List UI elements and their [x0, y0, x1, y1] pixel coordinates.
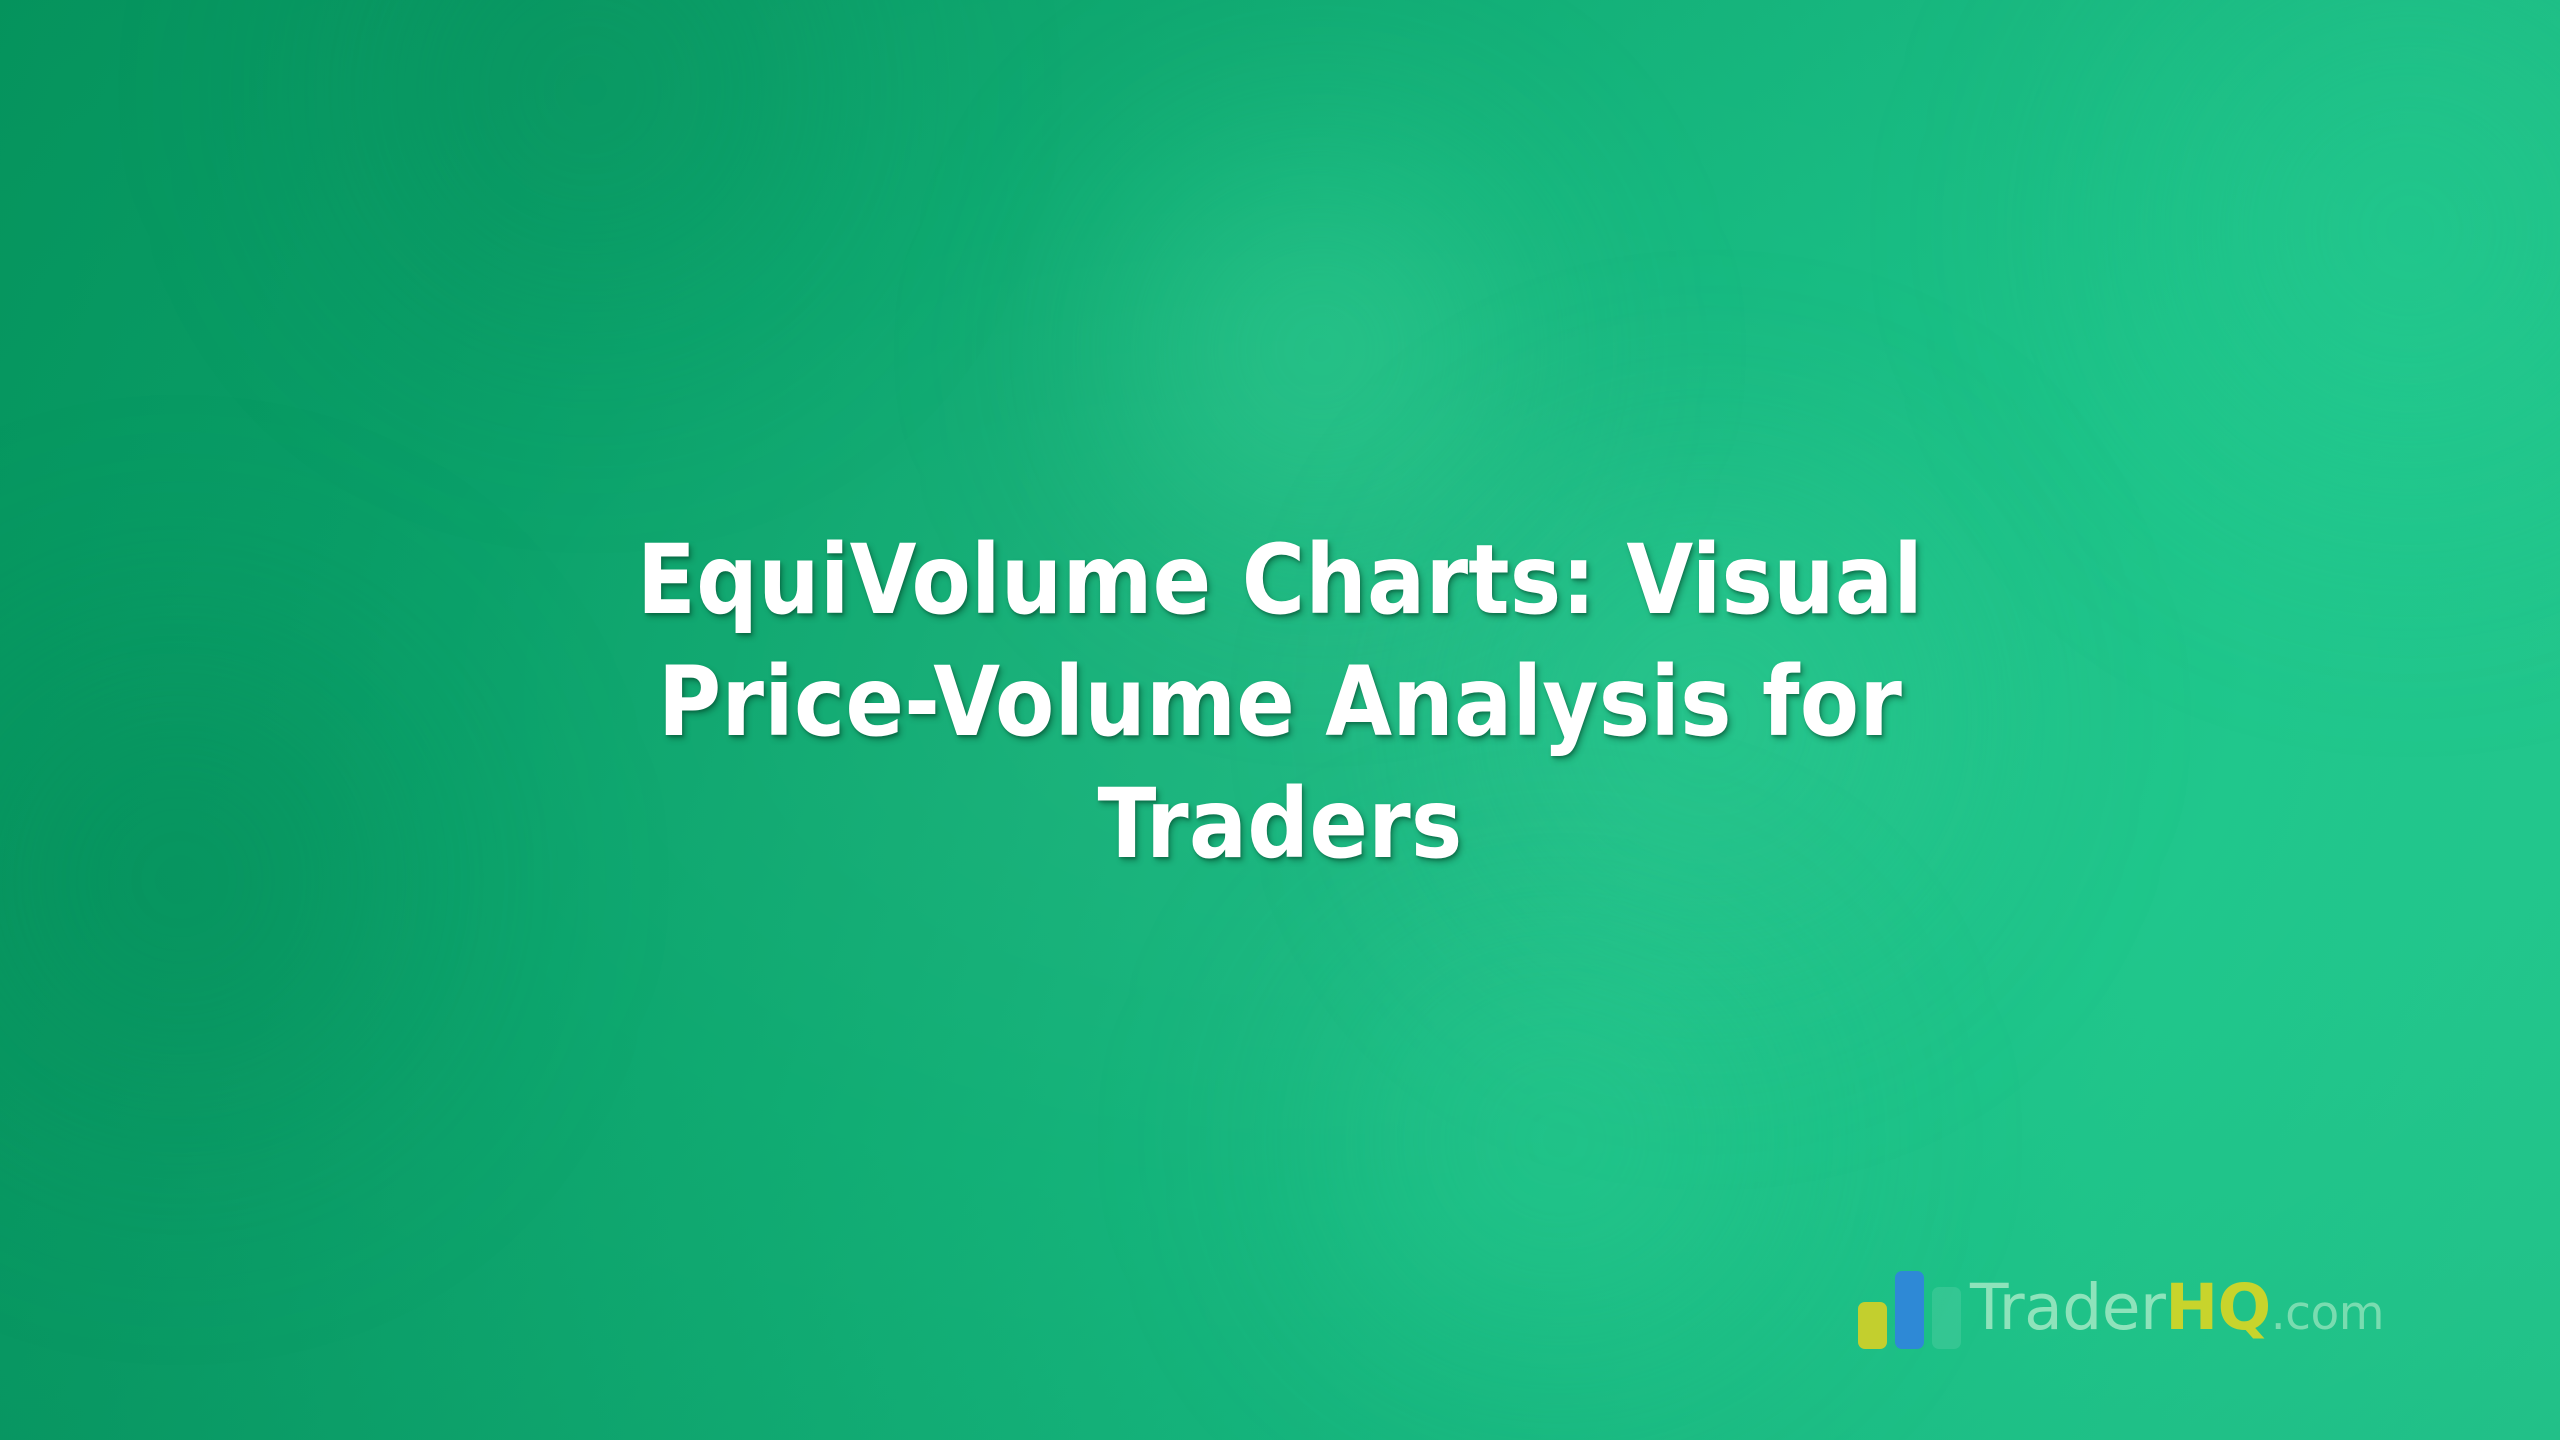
brand-name-accent: HQ	[2165, 1271, 2270, 1344]
page-title: EquiVolume Charts: Visual Price-Volume A…	[300, 520, 2260, 886]
brand-watermark: TraderHQ.com	[1856, 1258, 2384, 1362]
logo-bar-yellow-icon	[1858, 1302, 1887, 1349]
logo-bar-ghost-icon	[1932, 1287, 1961, 1349]
logo-bar-blue-icon	[1895, 1271, 1924, 1349]
brand-name-primary: Trader	[1970, 1271, 2165, 1344]
title-block: EquiVolume Charts: Visual Price-Volume A…	[0, 520, 2560, 886]
bar-chart-logo-icon	[1856, 1271, 1964, 1349]
brand-tld: .com	[2271, 1286, 2384, 1341]
brand-wordmark: TraderHQ.com	[1970, 1276, 2384, 1339]
slide-canvas: EquiVolume Charts: Visual Price-Volume A…	[0, 0, 2560, 1440]
